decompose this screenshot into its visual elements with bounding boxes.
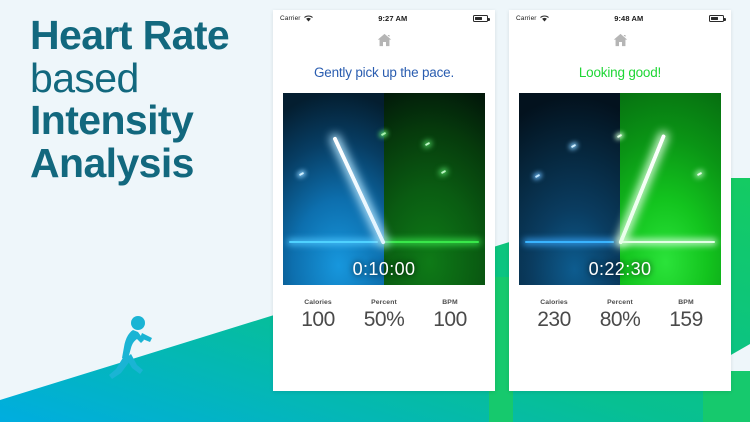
promo-line-4: Analysis	[30, 142, 280, 185]
stat-label-calories-2: Calories	[521, 299, 587, 306]
phone-mockup-1: Carrier 9:27 AM Gently pick up the pace.…	[273, 10, 495, 391]
stat-label-percent-1: Percent	[351, 299, 417, 306]
intensity-visualization-2: 0:22:30	[519, 93, 721, 285]
home-icon[interactable]	[377, 33, 392, 47]
stats-row-1: Calories 100 Percent 50% BPM 100	[273, 299, 495, 332]
carrier-label-2: Carrier	[516, 15, 537, 22]
home-icon[interactable]	[613, 33, 628, 47]
wifi-icon	[304, 15, 313, 22]
workout-timer-2: 0:22:30	[519, 259, 721, 280]
status-time-1: 9:27 AM	[313, 14, 473, 23]
workout-timer-1: 0:10:00	[283, 259, 485, 280]
stat-value-bpm-2: 159	[653, 308, 719, 332]
stat-label-calories-1: Calories	[285, 299, 351, 306]
status-time-2: 9:48 AM	[549, 14, 709, 23]
viz-right-zone-2	[620, 93, 721, 285]
stat-label-bpm-2: BPM	[653, 299, 719, 306]
stat-calories-2: Calories 230	[521, 299, 587, 332]
promo-headline: Heart Rate based Intensity Analysis	[30, 14, 280, 185]
viz-baseline-left-2	[525, 241, 614, 243]
viz-baseline-right-2	[620, 241, 715, 243]
promo-line-2: based	[30, 57, 280, 100]
phone-mockup-2: Carrier 9:48 AM Looking good! 0:22:30	[509, 10, 731, 391]
stats-row-2: Calories 230 Percent 80% BPM 159	[509, 299, 731, 332]
stat-value-percent-2: 80%	[587, 308, 653, 332]
nav-bar-2	[509, 27, 731, 53]
intensity-visualization-1: 0:10:00	[283, 93, 485, 285]
status-bar-1: Carrier 9:27 AM	[273, 10, 495, 27]
stat-bpm-1: BPM 100	[417, 299, 483, 332]
promo-line-3: Intensity	[30, 99, 280, 142]
battery-icon	[473, 15, 488, 22]
coaching-message-1: Gently pick up the pace.	[273, 65, 495, 80]
viz-baseline-right-1	[384, 241, 479, 243]
promo-line-1: Heart Rate	[30, 14, 280, 57]
stat-calories-1: Calories 100	[285, 299, 351, 332]
coaching-message-2: Looking good!	[509, 65, 731, 80]
stat-percent-1: Percent 50%	[351, 299, 417, 332]
viz-baseline-left-1	[289, 241, 378, 243]
stat-label-bpm-1: BPM	[417, 299, 483, 306]
viz-left-zone-1	[283, 93, 384, 285]
viz-left-zone-2	[519, 93, 620, 285]
battery-icon	[709, 15, 724, 22]
stat-value-calories-2: 230	[521, 308, 587, 332]
stat-label-percent-2: Percent	[587, 299, 653, 306]
wifi-icon	[540, 15, 549, 22]
status-bar-2: Carrier 9:48 AM	[509, 10, 731, 27]
carrier-label-1: Carrier	[280, 15, 301, 22]
runner-silhouette-icon	[100, 312, 158, 384]
stat-value-percent-1: 50%	[351, 308, 417, 332]
stat-value-calories-1: 100	[285, 308, 351, 332]
stat-bpm-2: BPM 159	[653, 299, 719, 332]
viz-right-zone-1	[384, 93, 485, 285]
stat-percent-2: Percent 80%	[587, 299, 653, 332]
stat-value-bpm-1: 100	[417, 308, 483, 332]
nav-bar-1	[273, 27, 495, 53]
